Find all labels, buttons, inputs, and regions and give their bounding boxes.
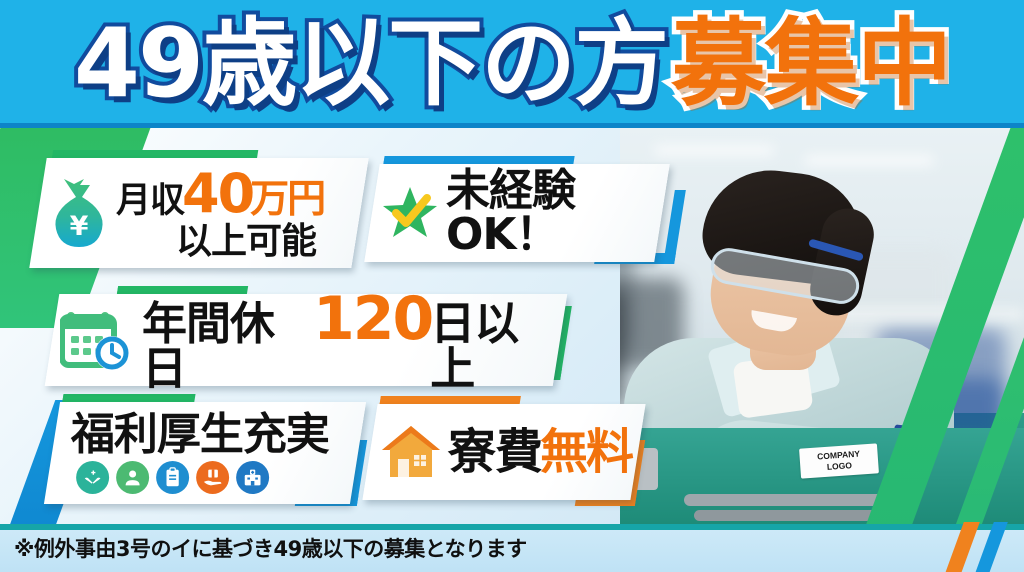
hand-box-support-icon: [196, 461, 229, 494]
header-band: 49歳以下の方 募集中: [0, 0, 1024, 128]
hospital-building-icon: [236, 461, 269, 494]
page-title: 49歳以下の方 募集中: [0, 0, 1024, 128]
badge-salary: ¥ 月収 40 万円 以上可能: [29, 158, 368, 268]
recruitment-banner: COMPANY LOGO 49歳以下の方 募集中: [0, 0, 1024, 572]
svg-text:¥: ¥: [70, 211, 89, 242]
salary-unit: 万円: [250, 180, 324, 219]
holiday-count: 120: [313, 289, 432, 349]
dorm-free-text: 無料: [540, 428, 632, 476]
welfare-text: 福利厚生充実: [71, 413, 329, 457]
footer-orange-accent: [944, 522, 980, 572]
holiday-label: 年間休日: [142, 301, 315, 391]
footer-note-text: ※例外事由3号のイに基づき49歳以下の募集となります: [0, 533, 527, 563]
salary-subtext: 以上可能: [176, 224, 324, 260]
headline-white-text: 49歳以下の方: [74, 17, 667, 112]
hands-heart-icon: [76, 461, 109, 494]
badge-line-2: LOGO: [827, 460, 853, 472]
salary-amount: 40: [182, 167, 253, 221]
person-care-icon: [116, 461, 149, 494]
calendar-clock-icon: [60, 307, 134, 373]
welfare-icon-row: [76, 461, 269, 494]
badge-experience: 未経験OK！: [364, 164, 670, 262]
money-bag-yen-icon: ¥: [48, 177, 110, 249]
footer-blue-accent: [974, 522, 1008, 572]
badge-holiday: 年間休日 120 日以上: [45, 294, 568, 386]
dorm-label: 寮費: [448, 428, 542, 476]
badge-welfare: 福利厚生充実: [44, 402, 366, 504]
green-star-check-icon: [382, 185, 438, 241]
badge-dorm: 寮費 無料: [362, 404, 645, 500]
house-icon: [380, 423, 442, 481]
holiday-suffix: 日以上: [430, 301, 560, 391]
salary-label: 月収: [116, 184, 184, 219]
headline-orange-text: 募集中: [671, 17, 950, 112]
company-logo-name-badge: COMPANY LOGO: [799, 443, 879, 478]
experience-text: 未経験OK！: [446, 169, 662, 257]
footer-note-bar: ※例外事由3号のイに基づき49歳以下の募集となります: [0, 524, 1024, 572]
clipboard-document-icon: [156, 461, 189, 494]
